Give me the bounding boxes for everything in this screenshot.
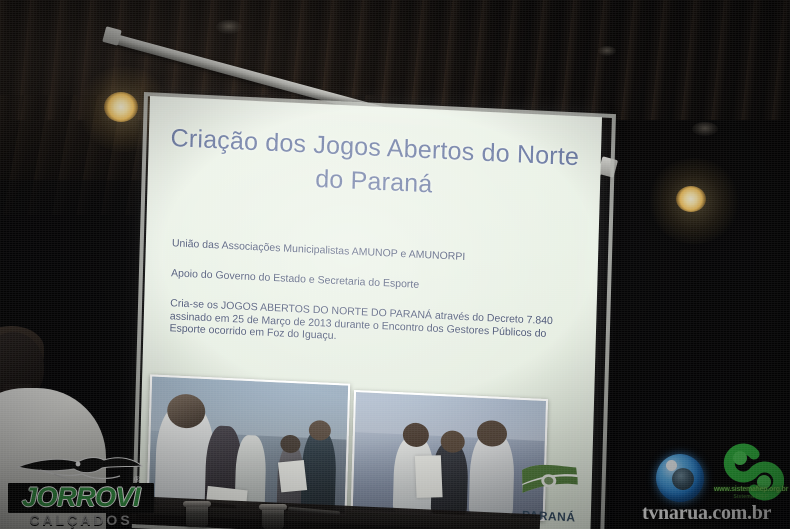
photo-figure xyxy=(301,430,337,514)
tvnarua-watermark: www.sistemafiep.org.br Sistema FIEP tvna… xyxy=(632,440,790,526)
jorrovi-brand-label: JORROVI xyxy=(10,482,152,513)
ceiling-spotlight-right xyxy=(676,186,706,212)
recessed-ceiling-fixture-right xyxy=(692,122,718,136)
table-cup-left-lid xyxy=(183,501,211,507)
jorrovi-tagline-label: CALÇADOS xyxy=(8,512,154,528)
ceiling-spotlight-left xyxy=(104,92,138,122)
green-logo-subtext-label: Sistema FIEP xyxy=(712,494,790,500)
recessed-ceiling-fixture-top xyxy=(216,20,242,34)
tvnarua-site-label: tvnarua.com.br xyxy=(632,502,790,524)
green-logo-url-label: www.sistemafiep.org.br xyxy=(712,486,790,493)
eye-pupil xyxy=(672,468,694,490)
projected-slide: Criação dos Jogos Abertos do Norte do Pa… xyxy=(138,96,602,529)
table-cup-right-lid xyxy=(259,504,287,510)
slide-body: União das Associações Municipalistas AMU… xyxy=(169,237,578,364)
table-cup-left xyxy=(186,505,208,527)
photo-document xyxy=(415,455,443,498)
table-cup-right xyxy=(262,508,284,529)
photo-scene: Criação dos Jogos Abertos do Norte do Pa… xyxy=(0,0,790,529)
slide-photo-left xyxy=(147,374,351,515)
photo-document xyxy=(278,460,307,492)
parana-state-flag-icon xyxy=(519,462,580,503)
blue-eye-logo-icon xyxy=(656,454,704,502)
winged-emblem-icon: ® xyxy=(16,455,144,485)
slide-title: Criação dos Jogos Abertos do Norte do Pa… xyxy=(167,121,581,208)
eye-highlight xyxy=(666,460,677,471)
slide-paragraph-1: União das Associações Municipalistas AMU… xyxy=(172,237,578,269)
slide-paragraph-2: Apoio do Governo do Estado e Secretaria … xyxy=(171,267,577,299)
recessed-ceiling-fixture-far-right xyxy=(598,46,616,56)
jorrovi-watermark: ® JORROVI CALÇADOS xyxy=(2,455,154,525)
